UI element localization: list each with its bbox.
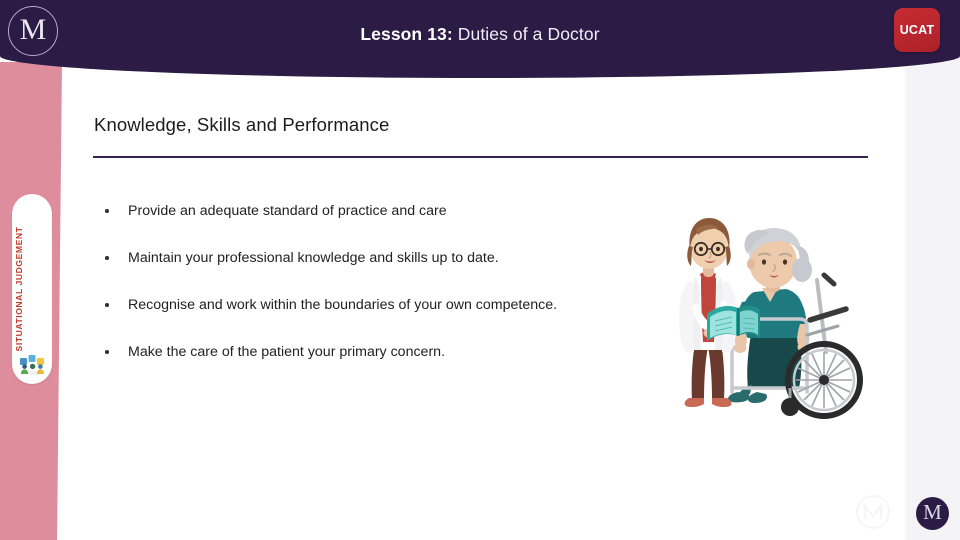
header-lesson-name: Duties of a Doctor bbox=[453, 24, 600, 44]
list-item-text: Provide an adequate standard of practice… bbox=[128, 203, 447, 219]
header-title: Lesson 13: Duties of a Doctor bbox=[0, 24, 960, 45]
bullet-dot-icon bbox=[105, 303, 109, 307]
slide-canvas: Lesson 13: Duties of a Doctor M UCAT SIT… bbox=[0, 0, 960, 540]
ucat-badge[interactable]: UCAT bbox=[894, 8, 940, 52]
sidebar-item-situational-judgement[interactable]: SITUATIONAL JUDGEMENT bbox=[12, 194, 52, 384]
bullet-dot-icon bbox=[105, 209, 109, 213]
slide-content: Knowledge, Skills and Performance Provid… bbox=[62, 78, 908, 540]
bullet-list: Provide an adequate standard of practice… bbox=[96, 200, 616, 364]
list-item-text: Maintain your professional knowledge and… bbox=[128, 250, 499, 266]
bullet-dot-icon bbox=[105, 350, 109, 354]
list-item-text: Make the care of the patient your primar… bbox=[128, 344, 445, 360]
list-item-text: Recognise and work within the boundaries… bbox=[128, 297, 557, 313]
header-lesson-number: Lesson 13: bbox=[360, 24, 452, 44]
list-item: Recognise and work within the boundaries… bbox=[96, 294, 616, 317]
brand-logo-letter: M bbox=[20, 15, 47, 45]
bullet-dot-icon bbox=[105, 256, 109, 260]
footer-brand-logo-icon[interactable]: M bbox=[916, 497, 949, 530]
slide-header: Lesson 13: Duties of a Doctor bbox=[0, 0, 960, 78]
ucat-badge-label: UCAT bbox=[900, 23, 935, 37]
list-item: Make the care of the patient your primar… bbox=[96, 341, 616, 364]
brand-logo-icon[interactable]: M bbox=[8, 6, 58, 56]
doctor-and-patient-illustration bbox=[674, 202, 874, 432]
people-group-icon bbox=[19, 354, 45, 376]
list-item: Maintain your professional knowledge and… bbox=[96, 247, 616, 270]
title-divider bbox=[93, 156, 868, 158]
right-side-panel bbox=[908, 55, 960, 540]
page-title: Knowledge, Skills and Performance bbox=[94, 114, 389, 136]
page-watermark bbox=[856, 495, 890, 529]
footer-brand-logo-letter: M bbox=[923, 502, 942, 523]
list-item: Provide an adequate standard of practice… bbox=[96, 200, 616, 223]
